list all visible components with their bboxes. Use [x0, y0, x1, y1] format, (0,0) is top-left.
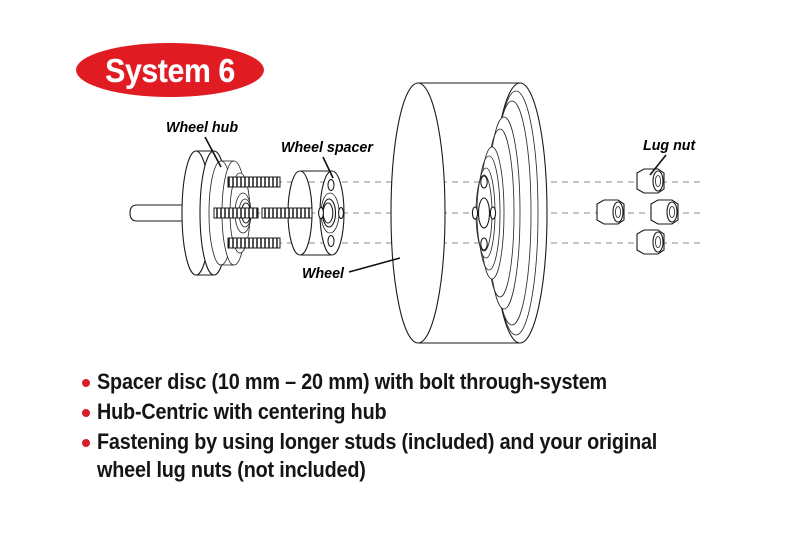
assembly-diagram: .ln { fill: none; stroke: #1a1a1a; strok… [0, 0, 800, 365]
wheel-hub-component [130, 151, 312, 275]
list-item: Spacer disc (10 mm – 20 mm) with bolt th… [82, 368, 762, 396]
callout-label-wheel-hub: Wheel hub [166, 119, 238, 136]
lug-nut [637, 169, 664, 193]
feature-bullet-list: Spacer disc (10 mm – 20 mm) with bolt th… [82, 368, 762, 486]
callout-label-lug-nut: Lug nut [643, 137, 695, 154]
bullet-text: Spacer disc (10 mm – 20 mm) with bolt th… [97, 368, 607, 396]
diagram-page: System 6 .ln { fill: none; stroke: #1a1a… [0, 0, 800, 533]
lug-nut [651, 200, 678, 224]
bullet-dot-icon [82, 379, 90, 387]
lug-nut [597, 200, 624, 224]
callout-label-wheel-spacer: Wheel spacer [281, 139, 373, 156]
bullet-dot-icon [82, 409, 90, 417]
bullet-dot-icon [82, 439, 90, 447]
leader-wheel [349, 258, 400, 272]
lug-nut [637, 230, 664, 254]
list-item: Fastening by using longer studs (include… [82, 428, 762, 484]
bullet-text: Hub-Centric with centering hub [97, 398, 386, 426]
list-item: Hub-Centric with centering hub [82, 398, 762, 426]
callout-label-wheel: Wheel [302, 265, 344, 282]
bullet-text: Fastening by using longer studs (include… [97, 428, 657, 484]
